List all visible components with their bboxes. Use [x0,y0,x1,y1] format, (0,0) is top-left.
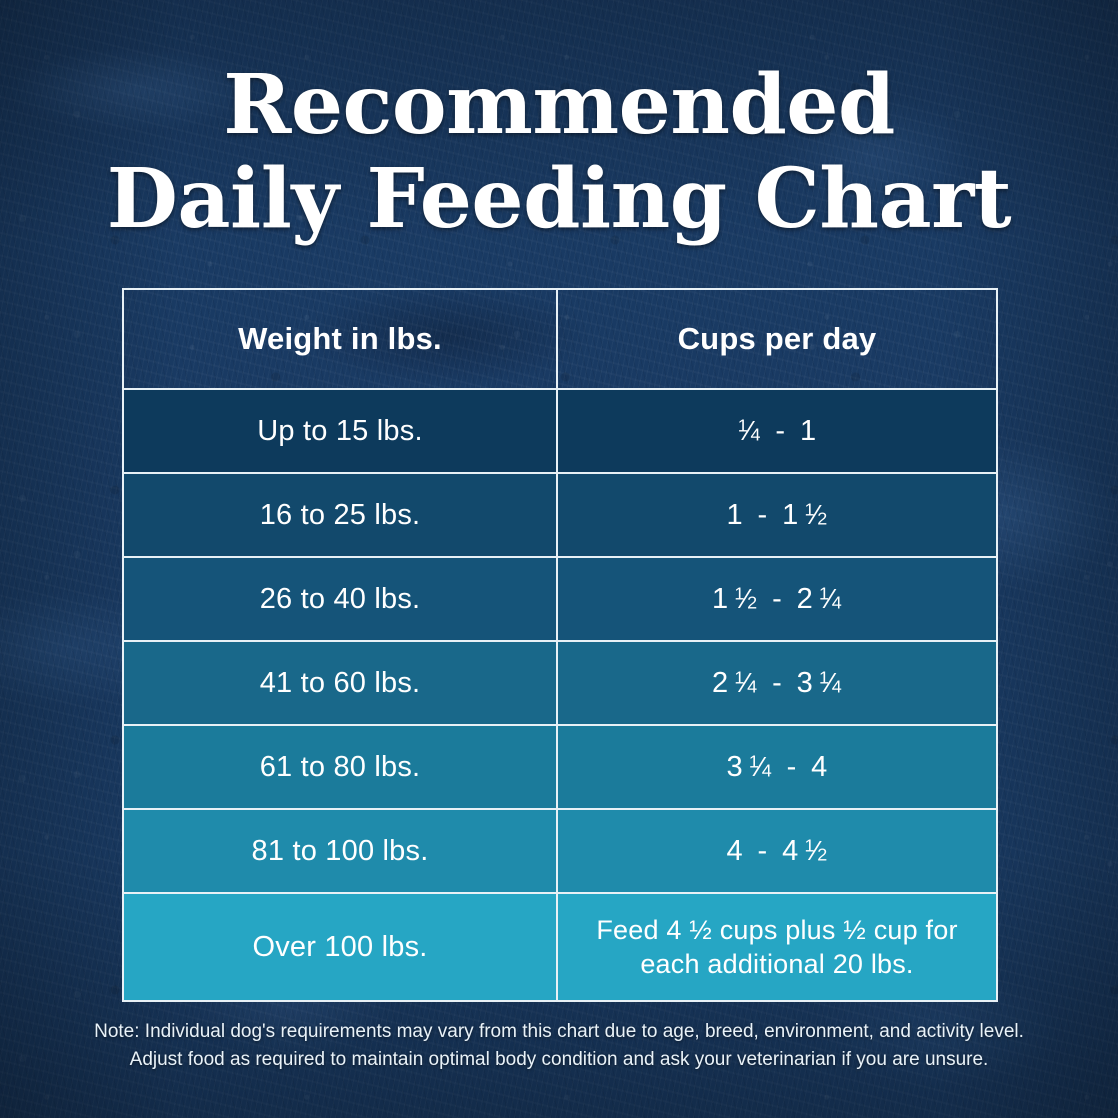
feeding-chart-poster: Recommended Daily Feeding Chart Weight i… [0,0,1118,1118]
cell-cups: 1 - 1 1⁄2 [558,474,996,556]
table-row: 41 to 60 lbs. 2 1⁄4 - 3 1⁄4 [124,640,996,724]
column-header-weight: Weight in lbs. [124,290,558,388]
table-row: Up to 15 lbs. 1⁄4 - 1 [124,388,996,472]
cell-cups: 1⁄4 - 1 [558,390,996,472]
cell-weight: 61 to 80 lbs. [124,726,558,808]
table-row: 81 to 100 lbs. 4 - 4 1⁄2 [124,808,996,892]
table-header-row: Weight in lbs. Cups per day [124,290,996,388]
footnote-line-1: Note: Individual dog's requirements may … [0,1018,1118,1046]
table-row: Over 100 lbs. Feed 4 ½ cups plus ½ cup f… [124,892,996,1000]
cell-weight: 26 to 40 lbs. [124,558,558,640]
cell-cups: 3 1⁄4 - 4 [558,726,996,808]
cell-weight: 81 to 100 lbs. [124,810,558,892]
table-row: 61 to 80 lbs. 3 1⁄4 - 4 [124,724,996,808]
cell-cups: 4 - 4 1⁄2 [558,810,996,892]
cell-cups: 1 1⁄2 - 2 1⁄4 [558,558,996,640]
feeding-table: Weight in lbs. Cups per day Up to 15 lbs… [122,288,998,1002]
cell-cups: 2 1⁄4 - 3 1⁄4 [558,642,996,724]
page-title: Recommended Daily Feeding Chart [0,58,1118,246]
cell-cups: Feed 4 ½ cups plus ½ cup for each additi… [558,894,996,1000]
cell-weight: 41 to 60 lbs. [124,642,558,724]
table-row: 16 to 25 lbs. 1 - 1 1⁄2 [124,472,996,556]
cell-weight: 16 to 25 lbs. [124,474,558,556]
title-line-2: Daily Feeding Chart [0,152,1118,246]
footnote-line-2: Adjust food as required to maintain opti… [0,1046,1118,1074]
cell-weight: Up to 15 lbs. [124,390,558,472]
column-header-cups: Cups per day [558,290,996,388]
cell-weight: Over 100 lbs. [124,894,558,1000]
title-line-1: Recommended [0,58,1118,152]
table-row: 26 to 40 lbs. 1 1⁄2 - 2 1⁄4 [124,556,996,640]
footnote: Note: Individual dog's requirements may … [0,1018,1118,1074]
